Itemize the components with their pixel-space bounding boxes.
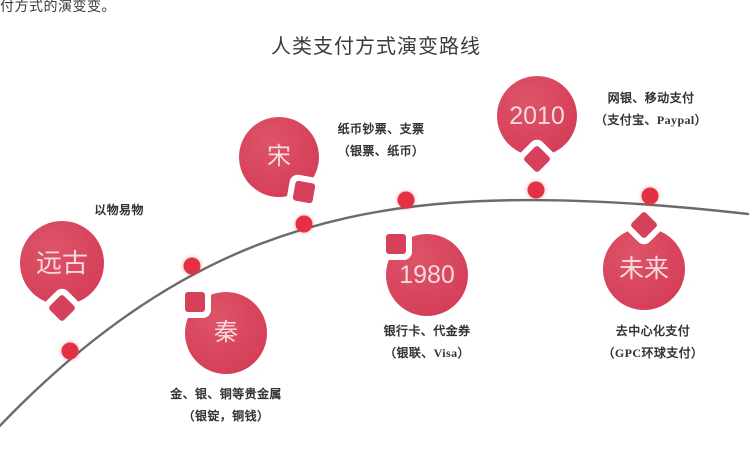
milestone-bubble-label-future: 未来: [619, 257, 669, 282]
milestone-dot-qin[interactable]: [184, 258, 201, 275]
caption-line1-qin: 金、银、铜等贵金属: [170, 387, 282, 401]
milestone-bubble-label-qin: 秦: [214, 321, 238, 345]
milestone-dot-ancient[interactable]: [62, 343, 79, 360]
milestone-bubble-label-song: 宋: [267, 145, 291, 169]
caption-line2-y1980: （银联、Visa）: [384, 342, 471, 364]
milestone-bubble-label-y2010: 2010: [509, 104, 565, 129]
milestone-caption-y1980: 银行卡、代金券（银联、Visa）: [384, 320, 471, 364]
bubble-tail-qin: [185, 292, 205, 312]
caption-line1-y1980: 银行卡、代金券: [384, 324, 471, 338]
milestone-bubble-y2010[interactable]: 2010: [497, 76, 577, 156]
milestone-bubble-label-y1980: 1980: [399, 263, 455, 288]
caption-line1-song: 纸币钞票、支票: [338, 122, 425, 136]
milestone-dot-future[interactable]: [642, 188, 659, 205]
payment-evolution-diagram: 付方式的演变变。 人类支付方式演变路线 远古秦宋19802010未来 以物易物金…: [0, 0, 752, 452]
caption-line1-future: 去中心化支付: [616, 324, 690, 338]
milestone-bubble-ancient[interactable]: 远古: [20, 221, 104, 305]
milestone-dot-y1980[interactable]: [398, 192, 415, 209]
bubble-tail-y1980: [386, 234, 406, 254]
caption-line2-future: （GPC环球支付）: [603, 342, 704, 364]
milestone-bubble-label-ancient: 远古: [36, 250, 88, 276]
milestone-caption-qin: 金、银、铜等贵金属（银锭，铜钱）: [170, 383, 282, 427]
caption-line2-y2010: （支付宝、Paypal）: [595, 109, 707, 131]
bubble-tail-song: [292, 181, 315, 204]
milestone-bubble-song[interactable]: 宋: [239, 117, 319, 197]
milestone-caption-ancient: 以物易物: [94, 199, 144, 221]
milestone-caption-song: 纸币钞票、支票（银票、纸币）: [338, 118, 425, 162]
milestone-bubble-y1980[interactable]: 1980: [386, 234, 468, 316]
milestone-dot-song[interactable]: [296, 216, 313, 233]
caption-line2-qin: （银锭，铜钱）: [170, 405, 282, 427]
milestone-caption-y2010: 网银、移动支付（支付宝、Paypal）: [595, 87, 707, 131]
caption-line1-ancient: 以物易物: [94, 203, 144, 217]
milestone-caption-future: 去中心化支付（GPC环球支付）: [603, 320, 704, 364]
caption-line2-song: （银票、纸币）: [338, 140, 425, 162]
milestone-bubble-future[interactable]: 未来: [603, 228, 685, 310]
caption-line1-y2010: 网银、移动支付: [608, 91, 695, 105]
milestone-dot-y2010[interactable]: [528, 182, 545, 199]
milestone-bubble-qin[interactable]: 秦: [185, 292, 267, 374]
